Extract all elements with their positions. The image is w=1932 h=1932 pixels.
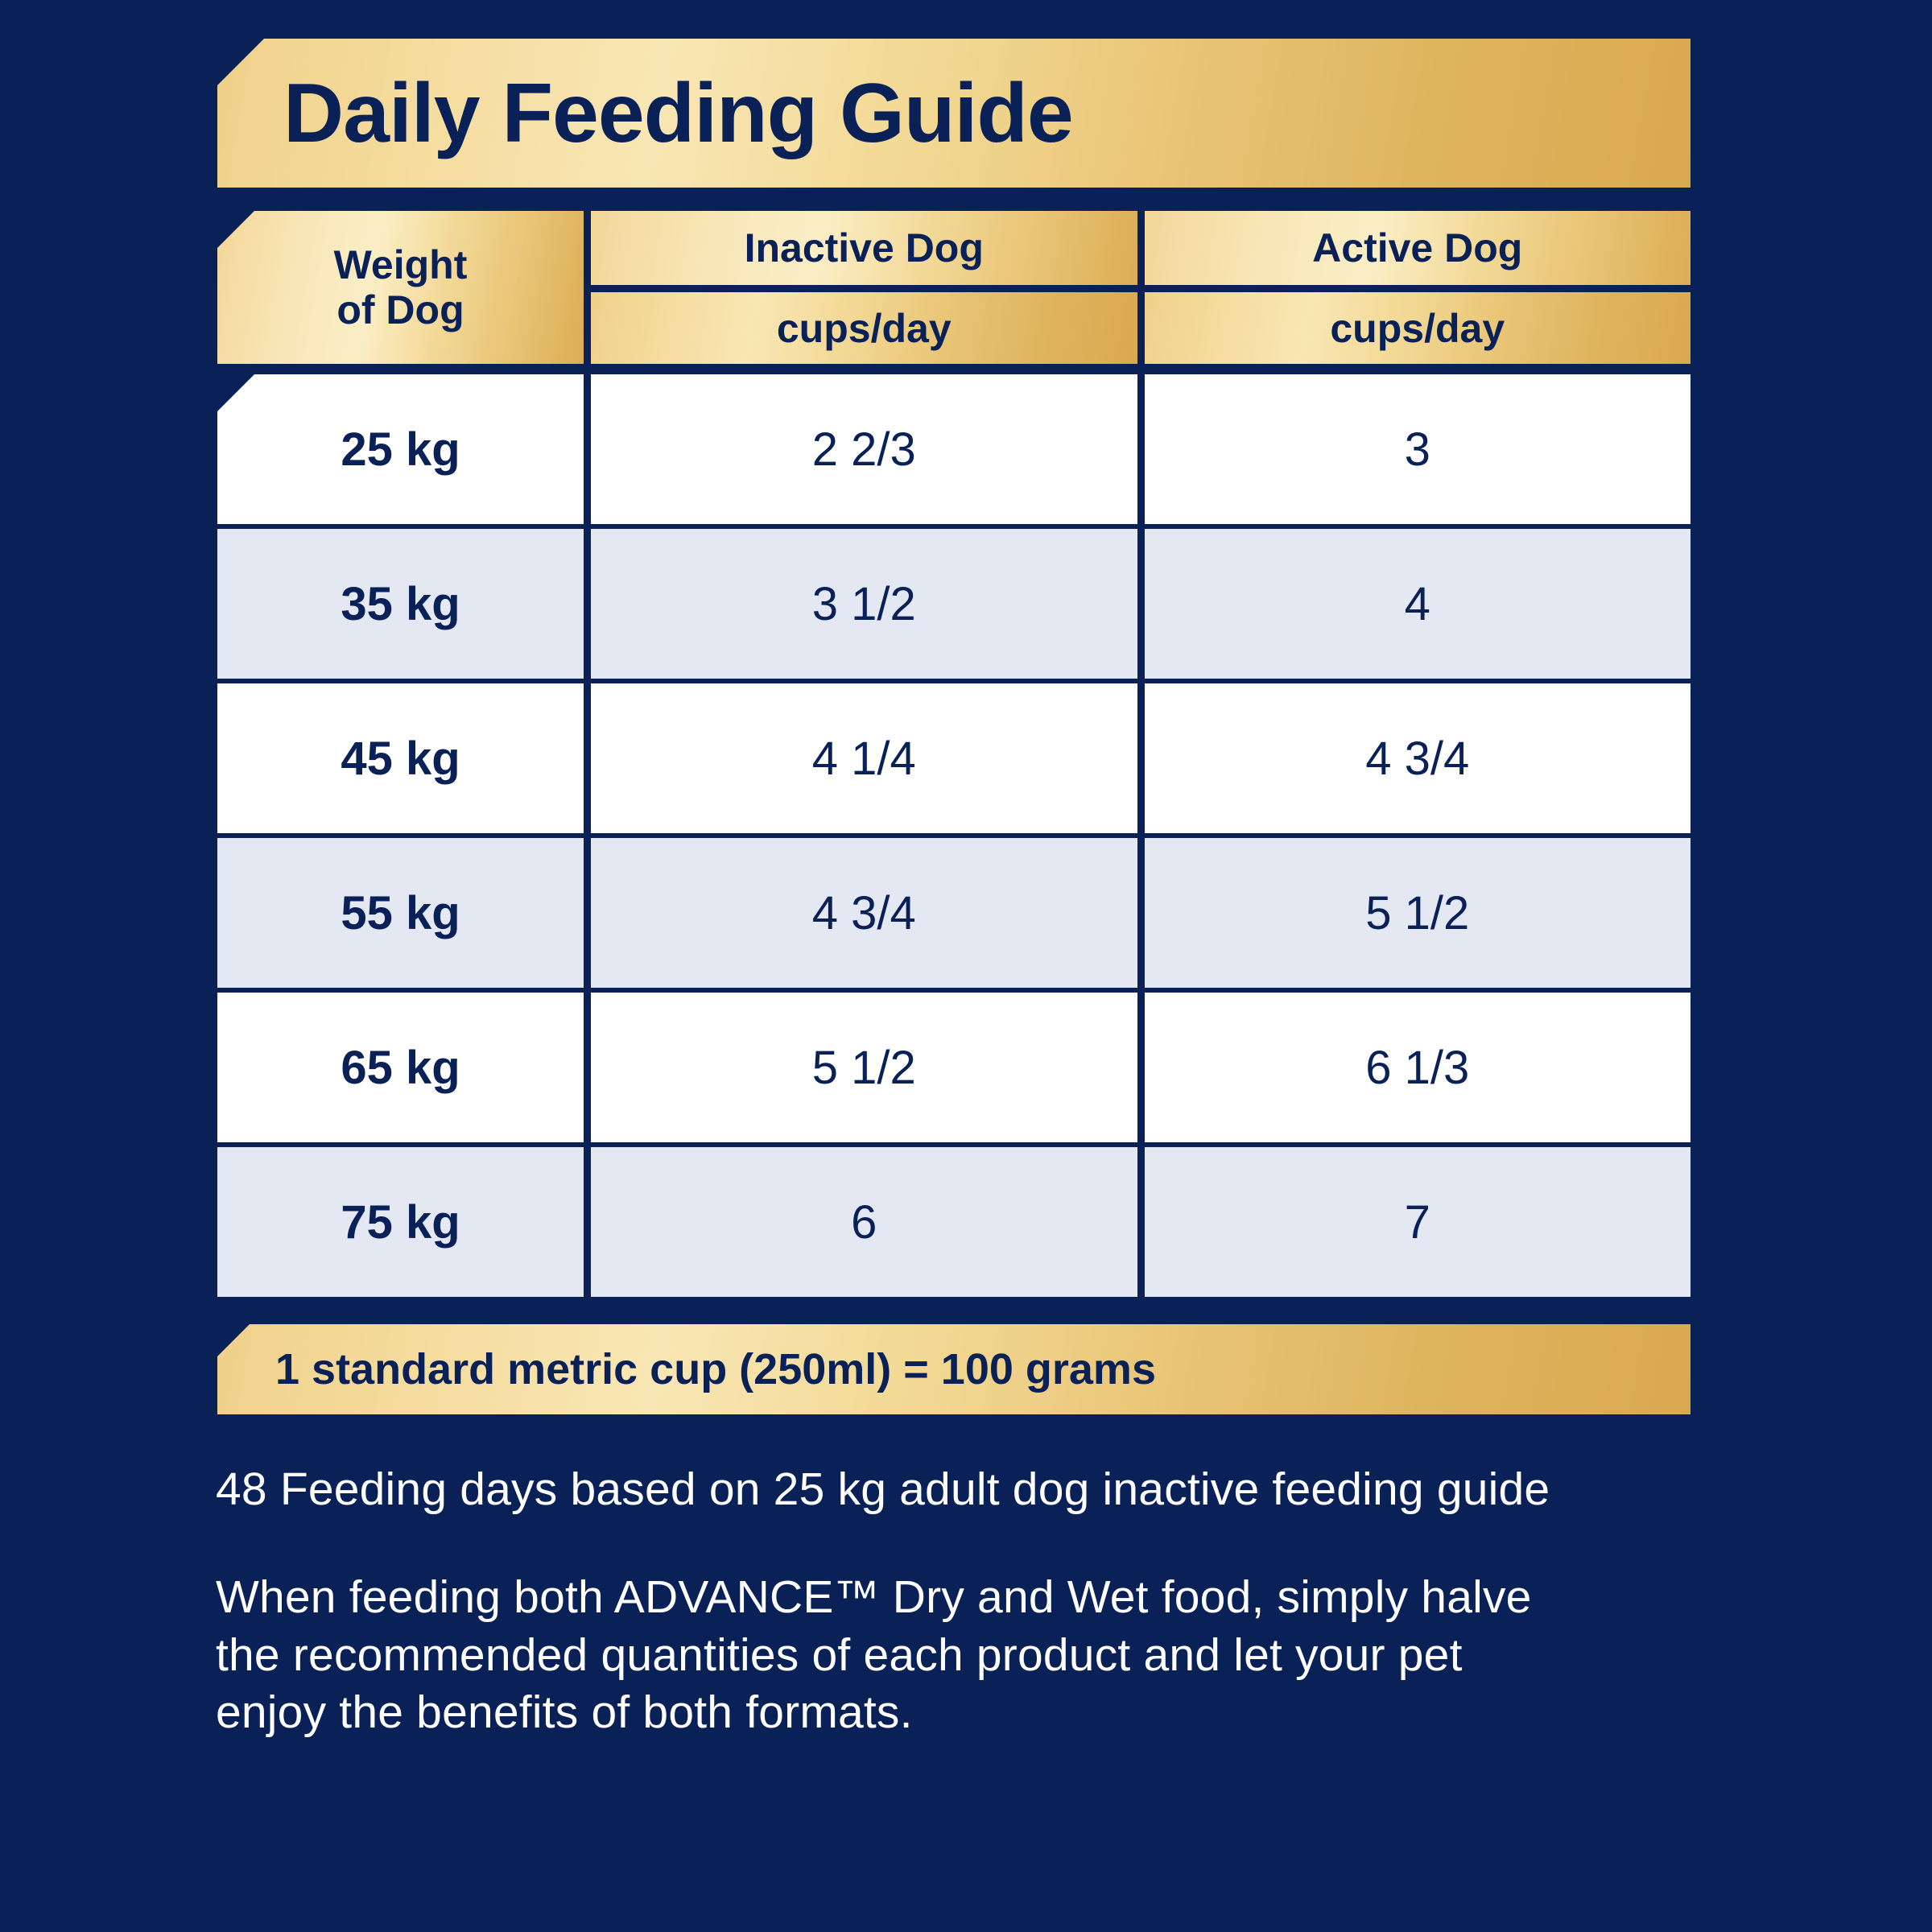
cell-active: 6 1/3 <box>1145 993 1691 1142</box>
column-header-weight-line2: of Dog <box>336 287 464 332</box>
footer-notes: 48 Feeding days based on 25 kg adult dog… <box>216 1461 1584 1742</box>
title-banner: Daily Feeding Guide <box>217 39 1690 188</box>
cell-weight: 35 kg <box>217 529 584 679</box>
cell-active-value: 5 1/2 <box>1365 886 1469 940</box>
table-row: 75 kg 6 7 <box>217 1147 1690 1297</box>
cell-active-value: 7 <box>1405 1195 1430 1249</box>
column-header-weight: Weight of Dog <box>217 211 584 364</box>
column-header-inactive-label: Inactive Dog <box>745 228 984 268</box>
cell-weight: 65 kg <box>217 993 584 1142</box>
cell-weight-value: 45 kg <box>341 732 460 786</box>
cell-active-value: 4 <box>1405 577 1430 631</box>
cell-active-value: 4 3/4 <box>1365 732 1469 786</box>
column-header-inactive-group: Inactive Dog cups/day <box>591 211 1137 364</box>
cell-weight: 25 kg <box>217 374 584 524</box>
footer-paragraph-1: 48 Feeding days based on 25 kg adult dog… <box>216 1461 1584 1519</box>
column-header-inactive-unit: cups/day <box>591 292 1137 364</box>
cell-active: 4 3/4 <box>1145 683 1691 833</box>
cell-weight: 45 kg <box>217 683 584 833</box>
cell-active: 3 <box>1145 374 1691 524</box>
cell-weight-value: 65 kg <box>341 1041 460 1095</box>
footer-paragraph-2: When feeding both ADVANCE™ Dry and Wet f… <box>216 1569 1584 1742</box>
cell-weight-value: 35 kg <box>341 577 460 631</box>
column-header-inactive: Inactive Dog <box>591 211 1137 285</box>
column-header-active-unit-label: cups/day <box>1330 308 1505 349</box>
cell-weight-value: 55 kg <box>341 886 460 940</box>
feeding-table: Weight of Dog Inactive Dog cups/day Acti… <box>217 211 1690 1297</box>
cell-weight-value: 75 kg <box>341 1195 460 1249</box>
table-row: 35 kg 3 1/2 4 <box>217 529 1690 679</box>
table-header-row: Weight of Dog Inactive Dog cups/day Acti… <box>217 211 1690 364</box>
cell-weight-value: 25 kg <box>341 423 460 477</box>
cell-weight: 75 kg <box>217 1147 584 1297</box>
cell-inactive-value: 4 1/4 <box>812 732 916 786</box>
cell-inactive: 4 3/4 <box>591 838 1137 988</box>
column-header-weight-line1: Weight <box>334 242 468 287</box>
cell-active-value: 3 <box>1405 423 1430 477</box>
cell-inactive-value: 6 <box>851 1195 877 1249</box>
cell-active: 4 <box>1145 529 1691 679</box>
column-header-inactive-unit-label: cups/day <box>777 308 952 349</box>
cell-inactive: 4 1/4 <box>591 683 1137 833</box>
table-row: 55 kg 4 3/4 5 1/2 <box>217 838 1690 988</box>
column-header-active-unit: cups/day <box>1145 292 1691 364</box>
table-row: 25 kg 2 2/3 3 <box>217 374 1690 524</box>
cell-inactive-value: 4 3/4 <box>812 886 916 940</box>
cell-inactive-value: 5 1/2 <box>812 1041 916 1095</box>
cell-inactive: 3 1/2 <box>591 529 1137 679</box>
cell-inactive: 6 <box>591 1147 1137 1297</box>
column-header-active-label: Active Dog <box>1312 228 1522 268</box>
table-body: 25 kg 2 2/3 3 35 kg 3 1/2 4 45 kg 4 1/4 … <box>217 374 1690 1297</box>
cell-inactive-value: 2 2/3 <box>812 423 916 477</box>
cell-inactive: 2 2/3 <box>591 374 1137 524</box>
feeding-guide-panel: Daily Feeding Guide Weight of Dog Inacti… <box>0 0 1932 1932</box>
table-row: 45 kg 4 1/4 4 3/4 <box>217 683 1690 833</box>
cup-conversion-banner: 1 standard metric cup (250ml) = 100 gram… <box>217 1324 1690 1414</box>
cup-conversion-text: 1 standard metric cup (250ml) = 100 gram… <box>275 1348 1156 1391</box>
page-title: Daily Feeding Guide <box>283 72 1073 155</box>
cell-weight: 55 kg <box>217 838 584 988</box>
cell-active: 7 <box>1145 1147 1691 1297</box>
column-header-active-group: Active Dog cups/day <box>1145 211 1691 364</box>
table-row: 65 kg 5 1/2 6 1/3 <box>217 993 1690 1142</box>
cell-active: 5 1/2 <box>1145 838 1691 988</box>
cell-inactive: 5 1/2 <box>591 993 1137 1142</box>
cell-active-value: 6 1/3 <box>1365 1041 1469 1095</box>
column-header-active: Active Dog <box>1145 211 1691 285</box>
cell-inactive-value: 3 1/2 <box>812 577 916 631</box>
